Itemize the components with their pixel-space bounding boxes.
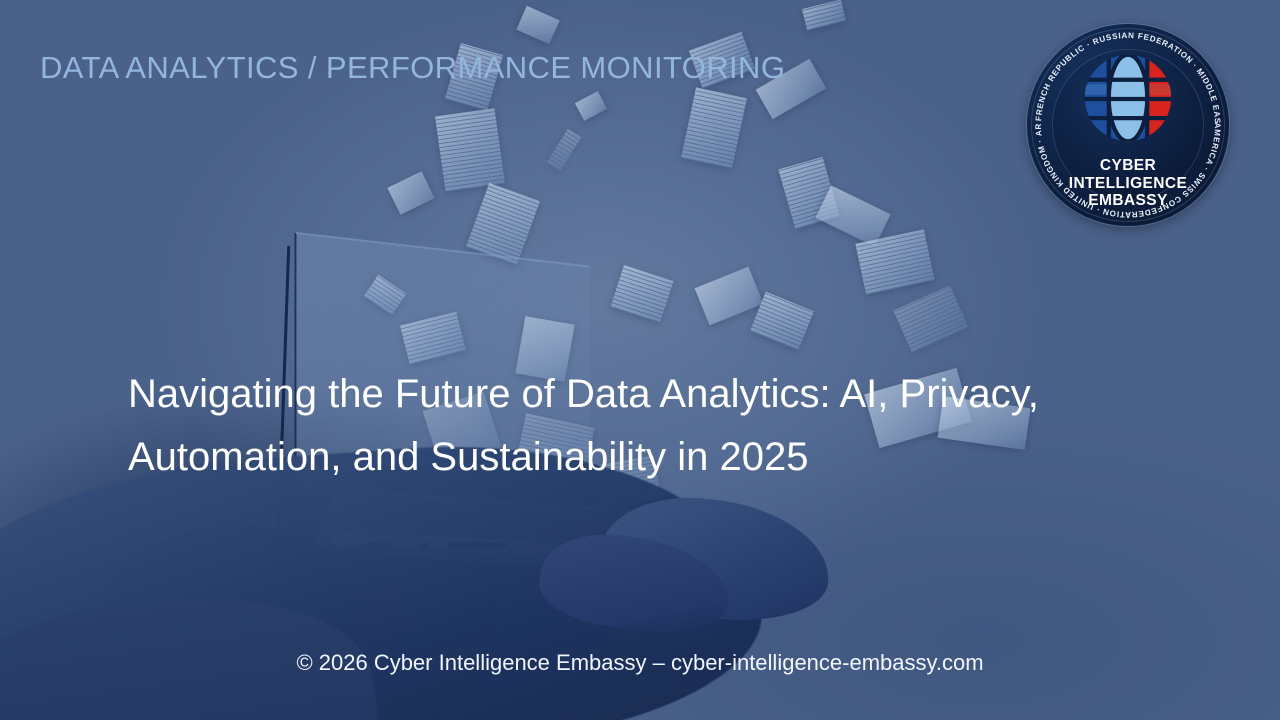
- logo-wordmark-line-3: EMBASSY: [1027, 192, 1229, 210]
- slide-category-eyebrow: DATA ANALYTICS / PERFORMANCE MONITORING: [40, 50, 785, 86]
- logo-wordmark-line-1: CYBER: [1027, 157, 1229, 175]
- slide-footer-copyright: © 2026 Cyber Intelligence Embassy – cybe…: [0, 650, 1280, 676]
- slide-title-line-1: Navigating the Future of Data Analytics:…: [128, 363, 1128, 426]
- flying-document: [435, 108, 505, 192]
- logo-wordmark: CYBER INTELLIGENCE EMBASSY: [1027, 157, 1229, 210]
- globe-icon: [1080, 50, 1176, 146]
- slide-title: Navigating the Future of Data Analytics:…: [128, 363, 1128, 489]
- presentation-slide: DATA ANALYTICS / PERFORMANCE MONITORING …: [0, 0, 1280, 720]
- cyber-intelligence-embassy-logo: EUROPEAN UNION · FRENCH REPUBLIC · RUSSI…: [1027, 24, 1229, 226]
- logo-wordmark-line-2: INTELLIGENCE: [1027, 175, 1229, 193]
- slide-title-line-2: Automation, and Sustainability in 2025: [128, 426, 1128, 489]
